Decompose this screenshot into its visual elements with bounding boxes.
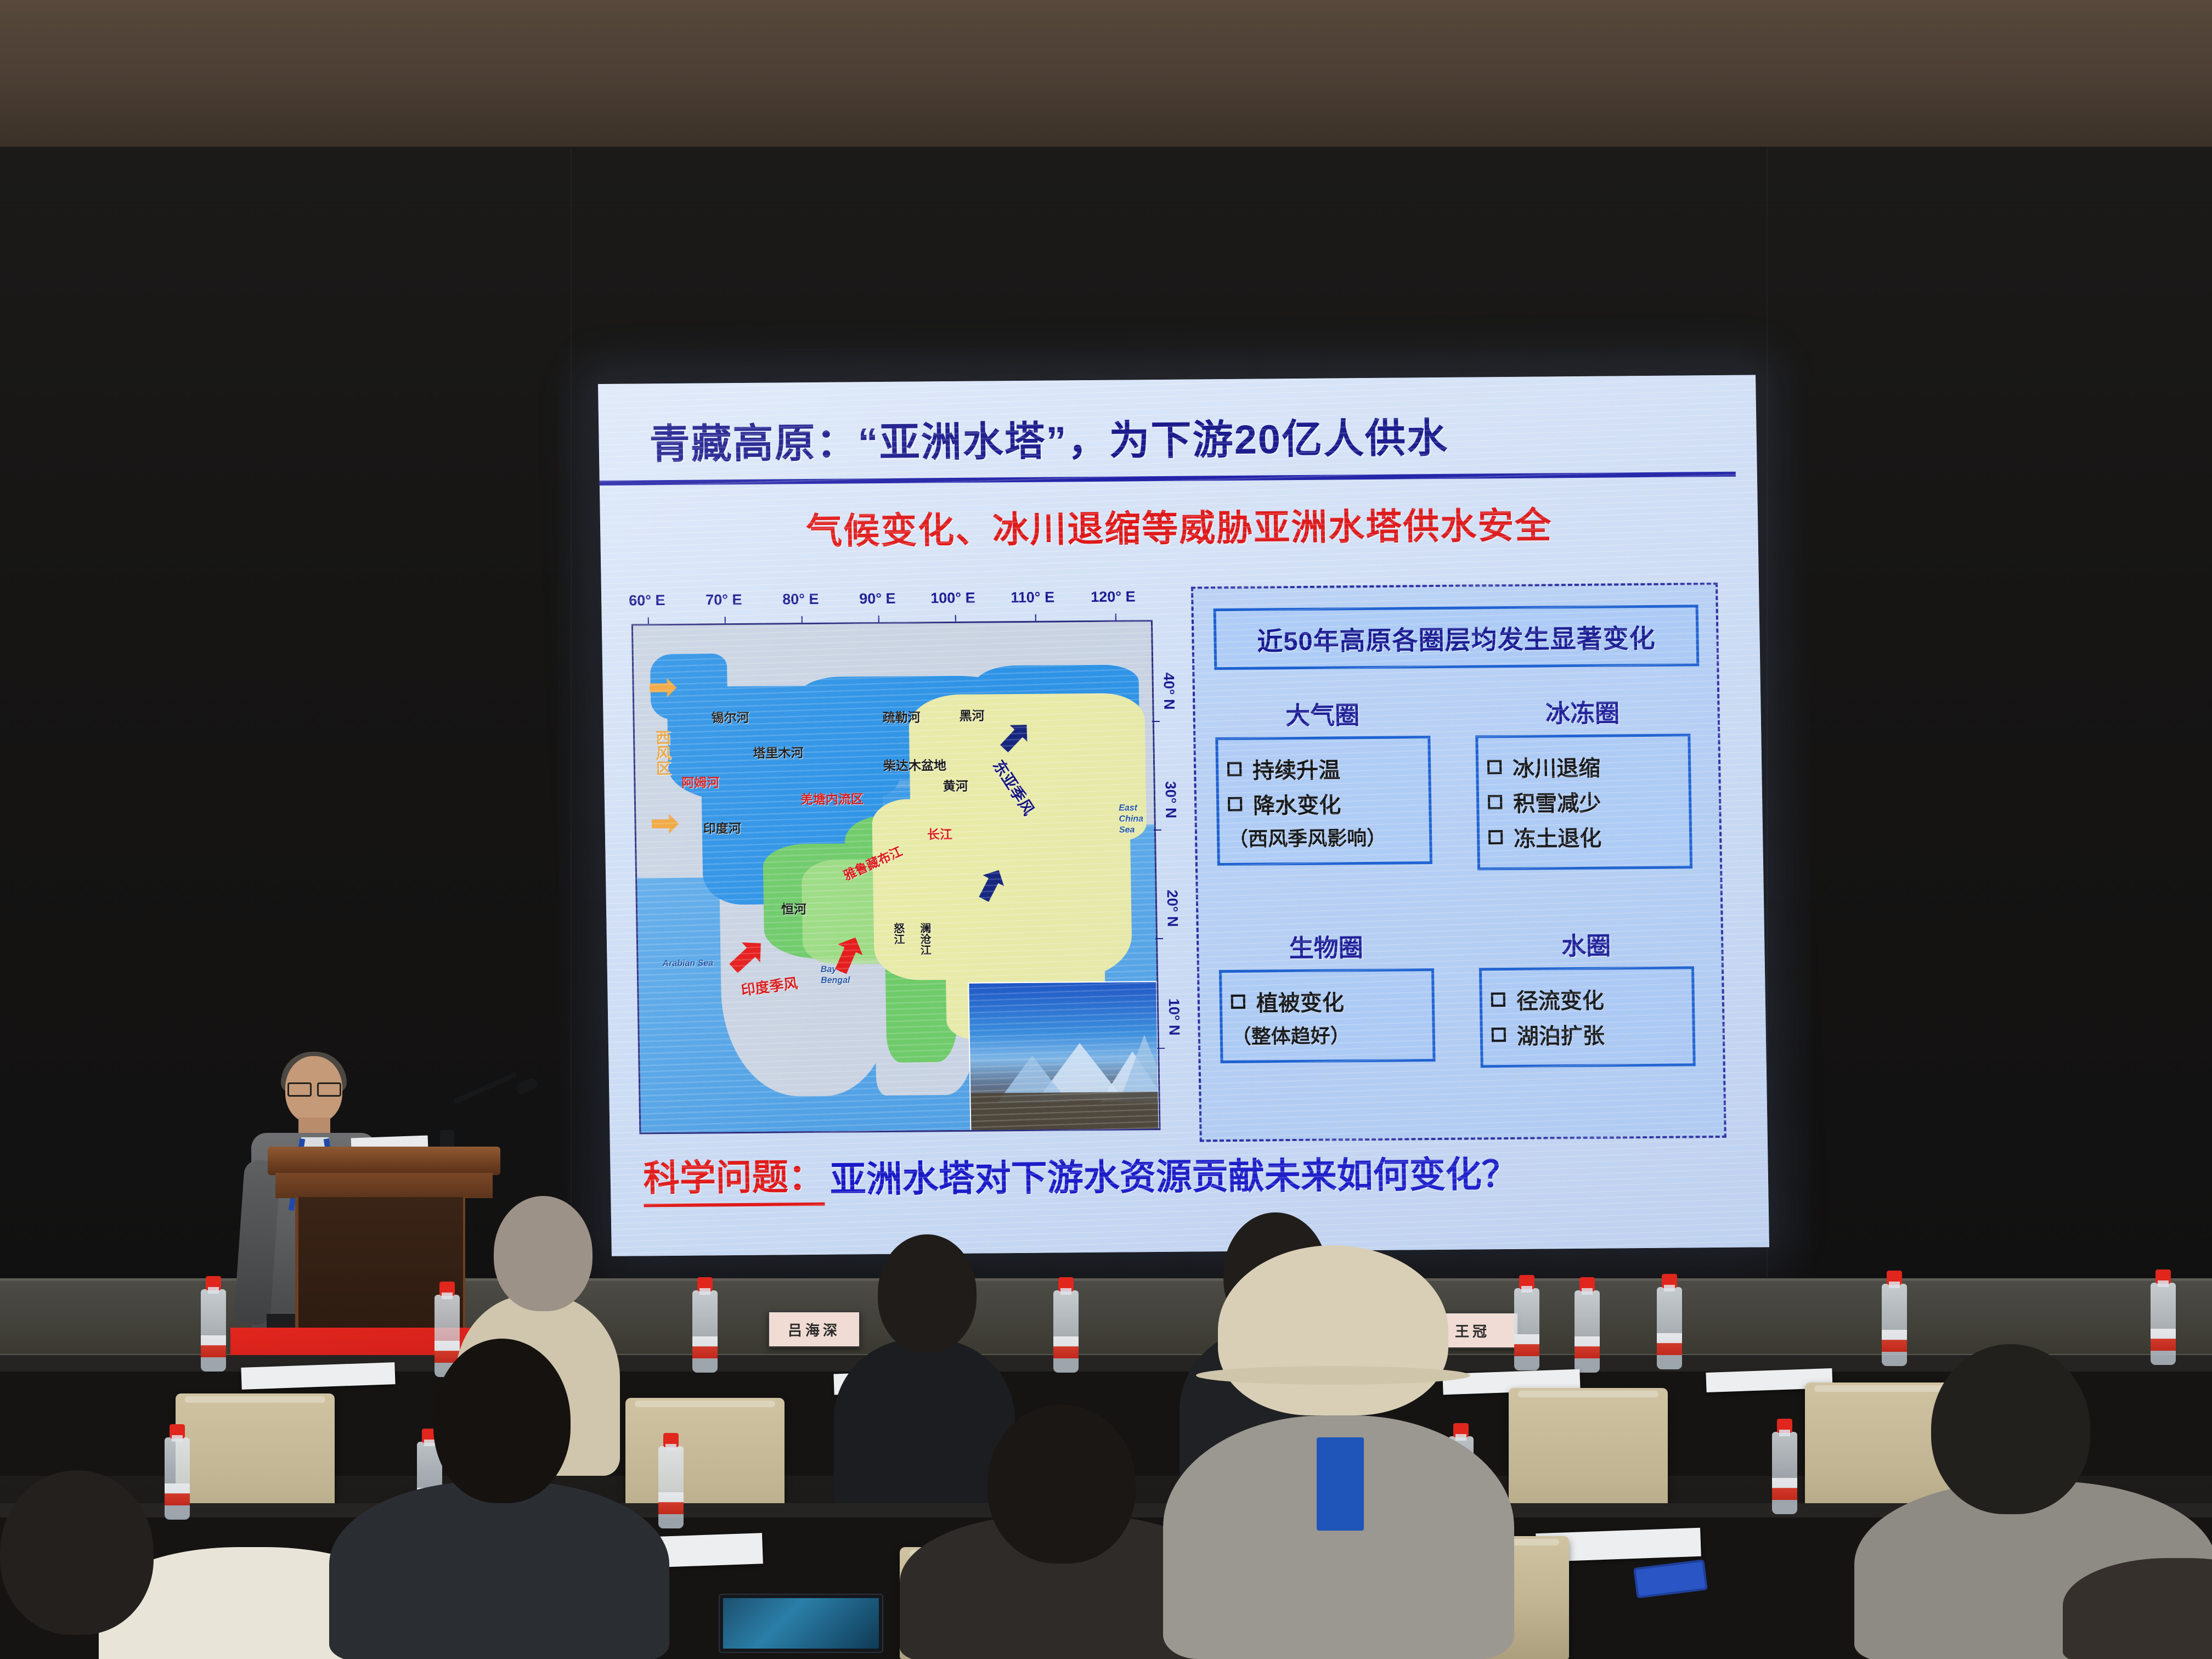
checklist-label: 积雪减少 bbox=[1513, 786, 1601, 818]
checkbox-icon[interactable] bbox=[1492, 1028, 1506, 1042]
bottle-neck bbox=[172, 1435, 183, 1442]
conference-room: 青藏高原：“亚洲水塔”，为下游20亿人供水 气候变化、冰川退缩等威胁亚洲水塔供水… bbox=[0, 0, 2212, 1659]
bottle-label bbox=[1882, 1330, 1907, 1352]
sphere-title-hydrosphere: 水圈 bbox=[1479, 925, 1694, 962]
map-label-qaidam: 柴达木盆地 bbox=[883, 755, 947, 774]
phone-screen bbox=[1636, 1562, 1706, 1596]
bottle-neck bbox=[2158, 1280, 2169, 1287]
checkbox-icon[interactable] bbox=[1488, 830, 1503, 844]
checkbox-icon[interactable] bbox=[1227, 762, 1242, 776]
question-text: 亚洲水塔对下游水资源贡献未来如何变化？ bbox=[830, 1145, 1519, 1203]
map-latitude-axis: 10° N 20° N 30° N 40° N bbox=[1155, 620, 1197, 1130]
bottle-label bbox=[1657, 1333, 1682, 1355]
sphere-box-hydrosphere: 径流变化 湖泊扩张 bbox=[1479, 966, 1696, 1068]
sphere-title-biosphere: 生物圈 bbox=[1218, 927, 1434, 964]
checkbox-icon[interactable] bbox=[1491, 992, 1505, 1007]
slide-title: 青藏高原：“亚洲水塔”，为下游20亿人供水 bbox=[649, 399, 1709, 473]
laptop-screen bbox=[723, 1598, 879, 1649]
map-label-indus: 印度河 bbox=[703, 818, 741, 837]
checklist-item[interactable]: 冻土退化 bbox=[1488, 820, 1681, 854]
sphere-note-atmosphere: （西风季风影响） bbox=[1228, 822, 1421, 852]
hat-brim bbox=[1196, 1366, 1470, 1385]
checklist-item[interactable]: 径流变化 bbox=[1491, 982, 1683, 1015]
audience-head bbox=[1931, 1344, 2090, 1514]
moraine-foreground bbox=[970, 1092, 1159, 1132]
water-bottle[interactable] bbox=[692, 1290, 718, 1373]
water-bottle[interactable] bbox=[165, 1437, 190, 1520]
audience-head bbox=[878, 1234, 977, 1352]
checklist-label: 湖泊扩张 bbox=[1516, 1018, 1605, 1051]
water-bottle[interactable] bbox=[1657, 1287, 1682, 1369]
water-bottle[interactable] bbox=[658, 1446, 684, 1528]
checkbox-icon[interactable] bbox=[1228, 797, 1242, 811]
sphere-cryosphere: 冰冻圈 冰川退缩 积雪减少 冻土退化 bbox=[1475, 692, 1692, 870]
sphere-box-biosphere: 植被变化 （整体趋好） bbox=[1219, 968, 1436, 1063]
podium-front-panel bbox=[275, 1173, 493, 1198]
bottle-neck bbox=[442, 1293, 453, 1299]
sphere-box-cryosphere: 冰川退缩 积雪减少 冻土退化 bbox=[1475, 733, 1692, 870]
map-label-nujiang: 怒江 bbox=[890, 923, 906, 945]
audience-head bbox=[0, 1470, 154, 1635]
westerly-arrow-icon: ➡ bbox=[648, 670, 677, 704]
ceiling-wall-band bbox=[0, 0, 2212, 148]
water-bottle[interactable] bbox=[2151, 1283, 2176, 1365]
lon-tick-60e: 60° E bbox=[629, 592, 665, 610]
checklist-label: 冻土退化 bbox=[1514, 821, 1602, 853]
bucket-hat bbox=[1218, 1245, 1448, 1415]
water-bottle[interactable] bbox=[1772, 1432, 1797, 1514]
lat-mark bbox=[1154, 830, 1161, 831]
checklist-label: 持续升温 bbox=[1252, 752, 1341, 785]
title-divider-rule bbox=[598, 472, 1736, 486]
bottle-neck bbox=[699, 1288, 710, 1295]
map-label-syr-darya: 锡尔河 bbox=[711, 707, 749, 726]
podium-top bbox=[268, 1147, 500, 1175]
lat-mark bbox=[1152, 721, 1160, 722]
slide-subtitle-text: 气候变化、冰川退缩等威胁亚洲水塔供水安全 bbox=[806, 505, 1553, 551]
water-bottle[interactable] bbox=[1053, 1290, 1079, 1373]
map-label-westerlies: 西风区 bbox=[651, 730, 674, 776]
slide-title-text: 青藏高原：“亚洲水塔”，为下游20亿人供水 bbox=[649, 405, 1449, 470]
checklist-item[interactable]: 冰川退缩 bbox=[1487, 750, 1680, 783]
bottle-neck bbox=[1455, 1434, 1466, 1441]
checklist-label: 降水变化 bbox=[1253, 787, 1341, 820]
bottle-neck bbox=[1779, 1430, 1790, 1436]
bottle-label bbox=[201, 1335, 226, 1357]
scientific-question-line: 科学问题： 亚洲水塔对下游水资源贡献未来如何变化？ bbox=[643, 1141, 1747, 1207]
lon-tick-80e: 80° E bbox=[782, 591, 819, 608]
bottle-neck bbox=[1521, 1286, 1532, 1293]
sphere-hydrosphere: 水圈 径流变化 湖泊扩张 bbox=[1479, 925, 1696, 1068]
map-longitude-axis: 60° E 70° E 80° E 90° E 100° E 110° E 12… bbox=[623, 588, 1172, 621]
sphere-title-atmosphere: 大气圈 bbox=[1215, 695, 1430, 732]
map-label-yangtze: 长江 bbox=[927, 824, 953, 843]
audience-shoulders bbox=[329, 1481, 669, 1659]
lat-tick-20n: 20° N bbox=[1164, 890, 1181, 927]
audience-head bbox=[494, 1196, 592, 1311]
question-label: 科学问题： bbox=[643, 1148, 825, 1207]
lon-tick-120e: 120° E bbox=[1091, 588, 1136, 606]
bottle-neck bbox=[1582, 1288, 1593, 1295]
led-presentation-screen[interactable]: 青藏高原：“亚洲水塔”，为下游20亿人供水 气候变化、冰川退缩等威胁亚洲水塔供水… bbox=[598, 375, 1769, 1256]
water-bottle[interactable] bbox=[201, 1289, 226, 1372]
checklist-label: 植被变化 bbox=[1256, 985, 1344, 1017]
bottle-label bbox=[1053, 1336, 1079, 1358]
audience-head bbox=[433, 1339, 571, 1503]
checkbox-icon[interactable] bbox=[1488, 795, 1502, 809]
asia-water-tower-map: 60° E 70° E 80° E 90° E 100° E 110° E 12… bbox=[623, 588, 1181, 1147]
bottle-neck bbox=[208, 1287, 219, 1294]
sphere-atmosphere: 大气圈 持续升温 降水变化 （西风季风影响） bbox=[1215, 695, 1432, 866]
checklist-item[interactable]: 持续升温 bbox=[1227, 752, 1420, 785]
bottle-label bbox=[1575, 1336, 1600, 1358]
checkbox-icon[interactable] bbox=[1487, 760, 1502, 774]
map-label-lancang: 澜沧江 bbox=[916, 922, 933, 955]
checklist-label: 径流变化 bbox=[1516, 983, 1604, 1015]
map-plot-area: ➡ ➡ 西风区 锡尔河 塔里木河 疏勒河 黑河 柴达木盆地 阿姆河 羌塘内流区 … bbox=[631, 620, 1161, 1134]
bottle-neck bbox=[424, 1440, 435, 1446]
bottle-label bbox=[1772, 1478, 1797, 1500]
glacier-inset-photo bbox=[968, 981, 1159, 1132]
map-label-arabian-sea: Arabian Sea bbox=[662, 958, 713, 969]
checklist-item[interactable]: 植被变化 bbox=[1231, 984, 1423, 1018]
sphere-changes-panel: 近50年高原各圈层均发生显著变化 大气圈 持续升温 降水变化 （西风季风影响 bbox=[1191, 583, 1726, 1142]
lon-tick-110e: 110° E bbox=[1011, 589, 1054, 606]
bottle-neck bbox=[1889, 1282, 1900, 1288]
lat-tick-40n: 40° N bbox=[1160, 673, 1177, 710]
slide-canvas: 青藏高原：“亚洲水塔”，为下游20亿人供水 气候变化、冰川退缩等威胁亚洲水塔供水… bbox=[598, 375, 1769, 1256]
map-label-qiangtang: 羌塘内流区 bbox=[800, 788, 864, 808]
lat-mark bbox=[1155, 938, 1163, 939]
wall-seam bbox=[571, 147, 572, 1299]
map-label-ganges: 恒河 bbox=[781, 899, 807, 917]
lat-tick-30n: 30° N bbox=[1161, 781, 1179, 819]
checklist-item[interactable]: 积雪减少 bbox=[1488, 785, 1680, 819]
lon-tick-70e: 70° E bbox=[706, 591, 742, 609]
map-label-amu-darya: 阿姆河 bbox=[681, 772, 720, 791]
lat-tick-10n: 10° N bbox=[1165, 998, 1183, 1036]
bottle-neck bbox=[1664, 1285, 1675, 1291]
sphere-note-biosphere: （整体趋好） bbox=[1231, 1019, 1424, 1049]
lon-tick-90e: 90° E bbox=[859, 590, 896, 608]
sphere-box-atmosphere: 持续升温 降水变化 （西风季风影响） bbox=[1215, 736, 1432, 866]
lat-mark bbox=[1157, 1048, 1165, 1049]
westerly-arrow-icon: ➡ bbox=[650, 806, 679, 840]
slide-subtitle: 气候变化、冰川退缩等威胁亚洲水塔供水安全 bbox=[600, 494, 1758, 556]
water-bottle[interactable] bbox=[1575, 1290, 1600, 1373]
bottle-neck bbox=[1060, 1288, 1071, 1295]
checklist-label: 冰川退缩 bbox=[1513, 751, 1601, 783]
water-bottle[interactable] bbox=[1514, 1288, 1539, 1370]
panel-heading-text: 近50年高原各圈层均发生显著变化 bbox=[1257, 617, 1656, 658]
checklist-item[interactable]: 湖泊扩张 bbox=[1491, 1017, 1684, 1051]
bottle-neck bbox=[665, 1444, 676, 1451]
checkbox-icon[interactable] bbox=[1231, 995, 1245, 1009]
placard-name-text: 吕海深 bbox=[788, 1319, 840, 1340]
sphere-title-cryosphere: 冰冻圈 bbox=[1475, 692, 1690, 730]
placard-name-text: 王冠 bbox=[1455, 1321, 1490, 1341]
map-label-shule: 疏勒河 bbox=[882, 707, 921, 726]
laptop[interactable] bbox=[719, 1594, 883, 1653]
bottle-label bbox=[658, 1492, 684, 1514]
water-bottle[interactable] bbox=[1882, 1284, 1907, 1366]
map-label-tarim: 塔里木河 bbox=[753, 742, 804, 761]
checklist-item[interactable]: 降水变化 bbox=[1228, 787, 1420, 820]
map-label-yellow-river: 黄河 bbox=[943, 776, 968, 794]
glasses-icon bbox=[287, 1082, 341, 1093]
lanyard-strap bbox=[1317, 1437, 1364, 1531]
map-label-heihe: 黑河 bbox=[959, 705, 985, 724]
bottle-label bbox=[165, 1483, 190, 1505]
bottle-label bbox=[1514, 1334, 1539, 1356]
lon-tick-100e: 100° E bbox=[930, 590, 975, 607]
map-label-east-china-sea: East China Sea bbox=[1119, 803, 1151, 836]
bottle-label bbox=[2151, 1329, 2176, 1351]
sphere-biosphere: 生物圈 植被变化 （整体趋好） bbox=[1218, 927, 1436, 1063]
bottle-label bbox=[692, 1336, 718, 1358]
audience-head bbox=[988, 1404, 1136, 1564]
panel-heading-box: 近50年高原各圈层均发生显著变化 bbox=[1214, 605, 1700, 670]
name-placard: 吕海深 bbox=[768, 1311, 860, 1347]
